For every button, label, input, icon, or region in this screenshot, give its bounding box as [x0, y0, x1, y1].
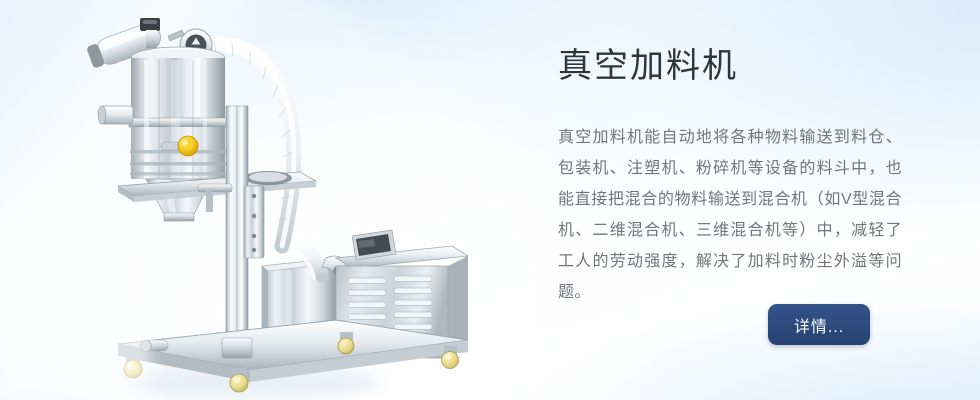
stainless-hopper-cylinder [98, 47, 227, 179]
copy-block: 真空加料机 真空加料机能自动地将各种物料输送到料仓、包装机、注塑机、粉碎机等设备… [558, 44, 958, 308]
image-edge-fade [0, 250, 150, 400]
sensor-block [140, 18, 160, 31]
vacuum-feeder-machine-icon [0, 0, 470, 400]
page-title: 真空加料机 [558, 44, 958, 88]
caster-front-center [230, 368, 248, 392]
product-description: 真空加料机能自动地将各种物料输送到料仓、包装机、注塑机、粉碎机等设备的料斗中，也… [558, 88, 902, 308]
caster-rear-right [338, 332, 354, 354]
product-banner: 真空加料机 真空加料机能自动地将各种物料输送到料仓、包装机、注塑机、粉碎机等设备… [0, 0, 980, 400]
details-button[interactable]: 详情... [768, 304, 870, 345]
column-foot-bracket [222, 338, 252, 358]
caster-far-right [442, 346, 459, 369]
product-image-vacuum-feeder [0, 0, 470, 400]
side-inlet-nozzle [98, 106, 133, 124]
